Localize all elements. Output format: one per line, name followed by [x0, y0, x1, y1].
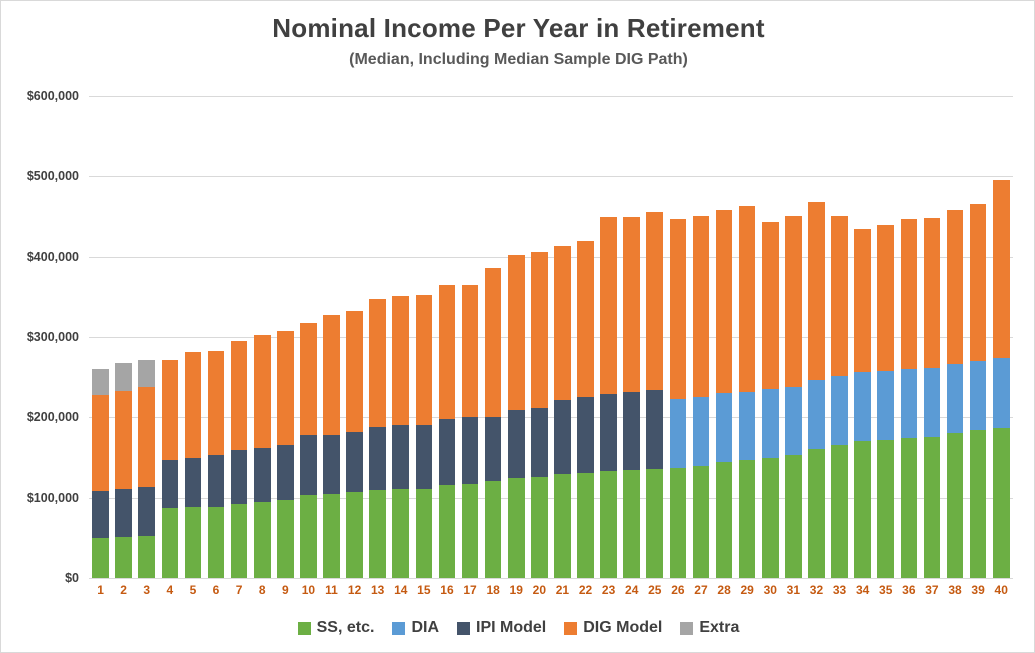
- bar-column[interactable]: [366, 96, 389, 578]
- bar-column[interactable]: [943, 96, 966, 578]
- x-axis-tick-label: 8: [251, 583, 274, 597]
- bar-segment: [369, 299, 386, 427]
- bar-segment: [92, 369, 109, 395]
- bar-column[interactable]: [528, 96, 551, 578]
- bar-segment: [462, 417, 479, 484]
- legend-swatch-icon: [680, 622, 693, 635]
- bar-segment: [670, 468, 687, 578]
- bar-segment: [392, 296, 409, 425]
- bar-stack: [416, 295, 433, 578]
- x-axis-tick-label: 32: [805, 583, 828, 597]
- bar-column[interactable]: [666, 96, 689, 578]
- x-axis-tick-label: 33: [828, 583, 851, 597]
- bar-segment: [739, 460, 756, 578]
- bar-stack: [277, 331, 294, 578]
- bar-column[interactable]: [204, 96, 227, 578]
- x-axis-tick-label: 2: [112, 583, 135, 597]
- bar-segment: [323, 315, 340, 436]
- bar-segment: [531, 408, 548, 477]
- bar-segment: [300, 323, 317, 435]
- bar-column[interactable]: [181, 96, 204, 578]
- bar-segment: [901, 369, 918, 438]
- bar-segment: [785, 387, 802, 455]
- bar-stack: [993, 180, 1010, 578]
- bar-segment: [439, 419, 456, 485]
- bar-stack: [346, 311, 363, 579]
- bar-stack: [462, 285, 479, 578]
- bar-column[interactable]: [158, 96, 181, 578]
- bar-column[interactable]: [828, 96, 851, 578]
- x-axis-tick-label: 23: [597, 583, 620, 597]
- bar-segment: [231, 341, 248, 450]
- bar-column[interactable]: [920, 96, 943, 578]
- bar-segment: [877, 440, 894, 578]
- bar-segment: [854, 229, 871, 372]
- bar-stack: [646, 212, 663, 578]
- x-axis-tick-label: 5: [181, 583, 204, 597]
- bar-segment: [485, 417, 502, 481]
- bar-column[interactable]: [389, 96, 412, 578]
- bar-column[interactable]: [251, 96, 274, 578]
- legend-label: IPI Model: [476, 619, 546, 637]
- bar-segment: [115, 391, 132, 489]
- bar-segment: [208, 455, 225, 506]
- bar-stack: [531, 252, 548, 578]
- bar-segment: [416, 489, 433, 578]
- bar-segment: [785, 216, 802, 387]
- bar-column[interactable]: [112, 96, 135, 578]
- x-axis-tick-label: 26: [666, 583, 689, 597]
- bar-segment: [831, 445, 848, 578]
- x-axis-labels: 1234567891011121314151617181920212223242…: [89, 583, 1013, 597]
- bar-column[interactable]: [689, 96, 712, 578]
- bar-column[interactable]: [435, 96, 458, 578]
- bar-segment: [185, 352, 202, 457]
- x-axis-tick-label: 11: [320, 583, 343, 597]
- bar-segment: [162, 360, 179, 460]
- legend-item[interactable]: DIA: [392, 619, 439, 637]
- bar-segment: [254, 335, 271, 448]
- bar-segment: [877, 371, 894, 440]
- bar-segment: [600, 217, 617, 394]
- bar-segment: [162, 508, 179, 578]
- bar-column[interactable]: [851, 96, 874, 578]
- bar-stack: [947, 210, 964, 578]
- x-axis-tick-label: 24: [620, 583, 643, 597]
- x-axis-tick-label: 36: [897, 583, 920, 597]
- bar-stack: [115, 363, 132, 578]
- bar-segment: [138, 360, 155, 387]
- bar-stack: [808, 202, 825, 578]
- bar-column[interactable]: [713, 96, 736, 578]
- bar-column[interactable]: [643, 96, 666, 578]
- bar-stack: [623, 217, 640, 578]
- bar-segment: [623, 470, 640, 578]
- bar-segment: [854, 372, 871, 441]
- y-axis-tick-label: $0: [1, 571, 79, 585]
- bar-segment: [739, 206, 756, 392]
- legend-label: Extra: [699, 619, 739, 637]
- legend-label: DIG Model: [583, 619, 662, 637]
- bar-segment: [346, 311, 363, 432]
- bar-stack: [439, 285, 456, 578]
- bar-stack: [300, 323, 317, 578]
- bar-column[interactable]: [759, 96, 782, 578]
- bar-stack: [924, 218, 941, 578]
- bar-stack: [739, 206, 756, 578]
- chart-title: Nominal Income Per Year in Retirement: [1, 13, 1035, 44]
- bar-segment: [808, 449, 825, 578]
- bar-segment: [439, 485, 456, 578]
- bar-column[interactable]: [320, 96, 343, 578]
- bar-segment: [646, 469, 663, 578]
- bar-segment: [670, 399, 687, 468]
- legend-swatch-icon: [457, 622, 470, 635]
- bar-segment: [462, 484, 479, 578]
- bar-stack: [392, 296, 409, 578]
- bar-segment: [92, 395, 109, 491]
- x-axis-tick-label: 30: [759, 583, 782, 597]
- bar-segment: [577, 397, 594, 473]
- bar-segment: [277, 331, 294, 444]
- bar-segment: [646, 390, 663, 469]
- bar-segment: [623, 217, 640, 393]
- bar-column[interactable]: [967, 96, 990, 578]
- legend-item[interactable]: IPI Model: [457, 619, 546, 637]
- bar-column[interactable]: [228, 96, 251, 578]
- bar-segment: [531, 252, 548, 408]
- bar-segment: [208, 507, 225, 578]
- bar-segment: [600, 394, 617, 471]
- bar-column[interactable]: [551, 96, 574, 578]
- bar-segment: [416, 295, 433, 424]
- bar-segment: [646, 212, 663, 390]
- bar-stack: [323, 315, 340, 578]
- bar-segment: [762, 458, 779, 579]
- bar-segment: [115, 363, 132, 391]
- bar-segment: [185, 507, 202, 578]
- bar-segment: [323, 435, 340, 494]
- bar-segment: [346, 432, 363, 492]
- bar-segment: [693, 466, 710, 578]
- bar-stack: [162, 360, 179, 578]
- bar-segment: [138, 536, 155, 578]
- y-axis-tick-label: $200,000: [1, 410, 79, 424]
- bar-segment: [554, 246, 571, 400]
- bar-segment: [970, 361, 987, 430]
- y-axis-tick-label: $500,000: [1, 169, 79, 183]
- x-axis-tick-label: 12: [343, 583, 366, 597]
- x-axis-tick-label: 34: [851, 583, 874, 597]
- chart-container: Nominal Income Per Year in Retirement (M…: [0, 0, 1035, 653]
- bar-column[interactable]: [990, 96, 1013, 578]
- bar-stack: [92, 369, 109, 578]
- bar-column[interactable]: [597, 96, 620, 578]
- x-axis-tick-label: 22: [574, 583, 597, 597]
- bar-segment: [947, 210, 964, 364]
- bar-segment: [392, 425, 409, 489]
- bar-stack: [138, 360, 155, 578]
- bar-segment: [300, 435, 317, 495]
- bar-column[interactable]: [897, 96, 920, 578]
- bar-stack: [185, 352, 202, 578]
- legend-swatch-icon: [392, 622, 405, 635]
- x-axis-tick-label: 7: [228, 583, 251, 597]
- bar-stack: [600, 217, 617, 578]
- bar-column[interactable]: [297, 96, 320, 578]
- x-axis-tick-label: 1: [89, 583, 112, 597]
- bar-segment: [808, 202, 825, 380]
- bar-stack: [785, 216, 802, 578]
- bar-segment: [254, 448, 271, 502]
- x-axis-tick-label: 21: [551, 583, 574, 597]
- bar-segment: [877, 225, 894, 371]
- x-axis-tick-label: 37: [920, 583, 943, 597]
- bar-column[interactable]: [505, 96, 528, 578]
- bar-segment: [924, 368, 941, 437]
- bar-segment: [254, 502, 271, 578]
- bar-segment: [739, 392, 756, 460]
- bar-segment: [924, 218, 941, 367]
- bar-stack: [554, 246, 571, 578]
- legend-swatch-icon: [298, 622, 311, 635]
- x-axis-tick-label: 15: [412, 583, 435, 597]
- bar-segment: [323, 494, 340, 578]
- bar-segment: [947, 364, 964, 433]
- bar-column[interactable]: [459, 96, 482, 578]
- bar-segment: [831, 216, 848, 377]
- bar-segment: [277, 445, 294, 500]
- bar-segment: [485, 268, 502, 417]
- x-axis-tick-label: 3: [135, 583, 158, 597]
- bar-segment: [231, 450, 248, 504]
- gridline: [89, 578, 1013, 579]
- bar-segment: [993, 180, 1010, 358]
- bar-column[interactable]: [412, 96, 435, 578]
- bar-column[interactable]: [274, 96, 297, 578]
- bar-column[interactable]: [805, 96, 828, 578]
- bar-segment: [808, 380, 825, 449]
- bar-segment: [346, 492, 363, 578]
- bar-stack: [670, 219, 687, 578]
- bar-column[interactable]: [574, 96, 597, 578]
- x-axis-tick-label: 10: [297, 583, 320, 597]
- bar-stack: [693, 216, 710, 578]
- y-axis-tick-label: $600,000: [1, 89, 79, 103]
- x-axis-tick-label: 28: [713, 583, 736, 597]
- bar-segment: [508, 478, 525, 578]
- x-axis-tick-label: 17: [459, 583, 482, 597]
- bar-segment: [600, 471, 617, 578]
- bar-segment: [993, 428, 1010, 578]
- bar-segment: [277, 500, 294, 578]
- chart-legend: SS, etc.DIAIPI ModelDIG ModelExtra: [1, 619, 1035, 637]
- bar-segment: [485, 481, 502, 578]
- bar-stack: [716, 210, 733, 578]
- bar-segment: [970, 204, 987, 361]
- bar-segment: [185, 458, 202, 508]
- bar-segment: [716, 210, 733, 393]
- bar-segment: [577, 473, 594, 578]
- bar-segment: [300, 495, 317, 578]
- x-axis-tick-label: 38: [943, 583, 966, 597]
- x-axis-tick-label: 13: [366, 583, 389, 597]
- x-axis-tick-label: 40: [990, 583, 1013, 597]
- bar-segment: [392, 489, 409, 578]
- bar-segment: [508, 410, 525, 478]
- bar-stack: [485, 268, 502, 578]
- legend-label: DIA: [411, 619, 439, 637]
- y-axis-tick-label: $300,000: [1, 330, 79, 344]
- bar-series-area: [89, 96, 1013, 578]
- bar-segment: [901, 219, 918, 369]
- bar-segment: [115, 489, 132, 537]
- bar-segment: [716, 462, 733, 578]
- bar-segment: [947, 433, 964, 578]
- bar-segment: [762, 222, 779, 389]
- x-axis-tick-label: 29: [736, 583, 759, 597]
- x-axis-tick-label: 16: [435, 583, 458, 597]
- bar-segment: [623, 392, 640, 470]
- bar-segment: [92, 491, 109, 538]
- bar-stack: [254, 335, 271, 578]
- x-axis-tick-label: 39: [967, 583, 990, 597]
- bar-stack: [762, 222, 779, 578]
- bar-column[interactable]: [135, 96, 158, 578]
- bar-segment: [831, 376, 848, 445]
- bar-stack: [877, 225, 894, 578]
- bar-segment: [693, 216, 710, 398]
- x-axis-tick-label: 31: [782, 583, 805, 597]
- bar-segment: [901, 438, 918, 578]
- bar-segment: [369, 490, 386, 578]
- x-axis-tick-label: 4: [158, 583, 181, 597]
- x-axis-tick-label: 18: [482, 583, 505, 597]
- x-axis-tick-label: 20: [528, 583, 551, 597]
- y-axis-tick-label: $400,000: [1, 250, 79, 264]
- legend-item[interactable]: DIG Model: [564, 619, 662, 637]
- bar-segment: [208, 351, 225, 455]
- bar-column[interactable]: [343, 96, 366, 578]
- x-axis-tick-label: 19: [505, 583, 528, 597]
- bar-column[interactable]: [736, 96, 759, 578]
- chart-subtitle: (Median, Including Median Sample DIG Pat…: [1, 51, 1035, 69]
- bar-stack: [231, 341, 248, 578]
- bar-column[interactable]: [620, 96, 643, 578]
- bar-segment: [138, 387, 155, 487]
- legend-item[interactable]: Extra: [680, 619, 739, 637]
- bar-segment: [693, 397, 710, 465]
- bar-segment: [508, 255, 525, 410]
- bar-stack: [369, 299, 386, 578]
- bar-stack: [208, 351, 225, 578]
- bar-segment: [670, 219, 687, 399]
- x-axis-tick-label: 27: [689, 583, 712, 597]
- bar-segment: [138, 487, 155, 536]
- x-axis-tick-label: 35: [874, 583, 897, 597]
- bar-segment: [416, 425, 433, 489]
- bar-segment: [162, 460, 179, 508]
- x-axis-tick-label: 14: [389, 583, 412, 597]
- x-axis-tick-label: 25: [643, 583, 666, 597]
- x-axis-tick-label: 6: [204, 583, 227, 597]
- bar-segment: [92, 538, 109, 578]
- bar-column[interactable]: [89, 96, 112, 578]
- bar-segment: [577, 241, 594, 397]
- bar-segment: [554, 400, 571, 474]
- bar-stack: [508, 255, 525, 578]
- legend-swatch-icon: [564, 622, 577, 635]
- legend-item[interactable]: SS, etc.: [298, 619, 375, 637]
- bar-segment: [716, 393, 733, 462]
- y-axis-tick-label: $100,000: [1, 491, 79, 505]
- bar-segment: [970, 430, 987, 578]
- bar-segment: [554, 474, 571, 578]
- bar-stack: [901, 219, 918, 578]
- bar-segment: [369, 427, 386, 490]
- bar-segment: [785, 455, 802, 578]
- legend-label: SS, etc.: [317, 619, 375, 637]
- bar-stack: [577, 241, 594, 578]
- bar-segment: [854, 441, 871, 578]
- bar-column[interactable]: [782, 96, 805, 578]
- bar-segment: [115, 537, 132, 578]
- bar-segment: [762, 389, 779, 457]
- bar-segment: [924, 437, 941, 578]
- bar-segment: [462, 285, 479, 418]
- bar-stack: [831, 216, 848, 578]
- bar-stack: [970, 204, 987, 578]
- bar-segment: [531, 477, 548, 578]
- bar-stack: [854, 229, 871, 578]
- x-axis-tick-label: 9: [274, 583, 297, 597]
- bar-segment: [231, 504, 248, 578]
- bar-column[interactable]: [482, 96, 505, 578]
- bar-column[interactable]: [874, 96, 897, 578]
- bar-segment: [993, 358, 1010, 428]
- bar-segment: [439, 285, 456, 419]
